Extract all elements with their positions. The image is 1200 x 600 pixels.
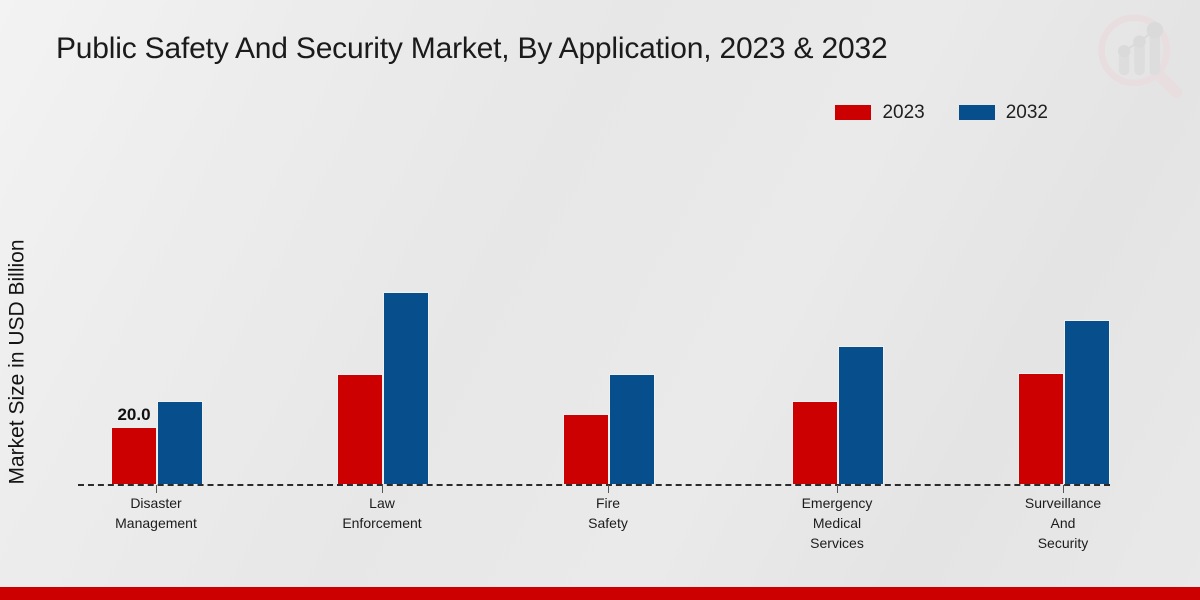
x-axis-tick-1 bbox=[156, 485, 157, 493]
bar-2023-law-enforcement[interactable] bbox=[337, 374, 383, 484]
bar-2032-surveillance-and-security[interactable] bbox=[1064, 320, 1110, 484]
footer-accent-bar bbox=[0, 587, 1200, 600]
x-axis-baseline bbox=[78, 484, 1110, 486]
x-axis-label-line: Safety bbox=[508, 514, 708, 534]
bar-2023-fire-safety[interactable] bbox=[563, 414, 609, 484]
x-axis-tick-5 bbox=[1063, 485, 1064, 493]
x-axis-label-line: Law bbox=[282, 494, 482, 514]
bar-2023-disaster-management[interactable]: 20.0 bbox=[111, 427, 157, 484]
x-axis-label-emergency-medical-services: Emergency Medical Services bbox=[737, 494, 937, 554]
x-axis-label-line: Disaster bbox=[56, 494, 256, 514]
bar-value-2023-disaster-management: 20.0 bbox=[117, 405, 150, 425]
x-axis-tick-2 bbox=[382, 485, 383, 493]
x-axis-label-line: Emergency bbox=[737, 494, 937, 514]
bar-2023-surveillance-and-security[interactable] bbox=[1018, 373, 1064, 484]
bar-2032-disaster-management[interactable] bbox=[157, 401, 203, 484]
x-axis-tick-4 bbox=[837, 485, 838, 493]
bar-2032-fire-safety[interactable] bbox=[609, 374, 655, 484]
x-axis-label-line: Surveillance bbox=[963, 494, 1163, 514]
bar-2032-law-enforcement[interactable] bbox=[383, 292, 429, 484]
x-axis-label-disaster-management: Disaster Management bbox=[56, 494, 256, 534]
x-axis-label-line: Security bbox=[963, 534, 1163, 554]
x-axis-label-line: And bbox=[963, 514, 1163, 534]
bar-2023-emergency-medical-services[interactable] bbox=[792, 401, 838, 484]
bar-group-fire-safety bbox=[562, 154, 656, 484]
bar-group-law-enforcement bbox=[336, 154, 430, 484]
x-axis-label-line: Fire bbox=[508, 494, 708, 514]
x-axis-label-line: Medical bbox=[737, 514, 937, 534]
bar-group-emergency-medical-services bbox=[791, 154, 885, 484]
x-axis-label-surveillance-and-security: Surveillance And Security bbox=[963, 494, 1163, 554]
x-axis-label-line: Services bbox=[737, 534, 937, 554]
bar-2032-emergency-medical-services[interactable] bbox=[838, 346, 884, 484]
plot-area: 20.0 Disaster Management Law Enforcement bbox=[0, 0, 1200, 600]
chart-canvas: Public Safety And Security Market, By Ap… bbox=[0, 0, 1200, 600]
bar-group-disaster-management: 20.0 bbox=[110, 154, 204, 484]
bar-group-surveillance-and-security bbox=[1017, 154, 1111, 484]
x-axis-label-line: Management bbox=[56, 514, 256, 534]
x-axis-tick-3 bbox=[608, 485, 609, 493]
x-axis-label-line: Enforcement bbox=[282, 514, 482, 534]
x-axis-label-law-enforcement: Law Enforcement bbox=[282, 494, 482, 534]
x-axis-label-fire-safety: Fire Safety bbox=[508, 494, 708, 534]
